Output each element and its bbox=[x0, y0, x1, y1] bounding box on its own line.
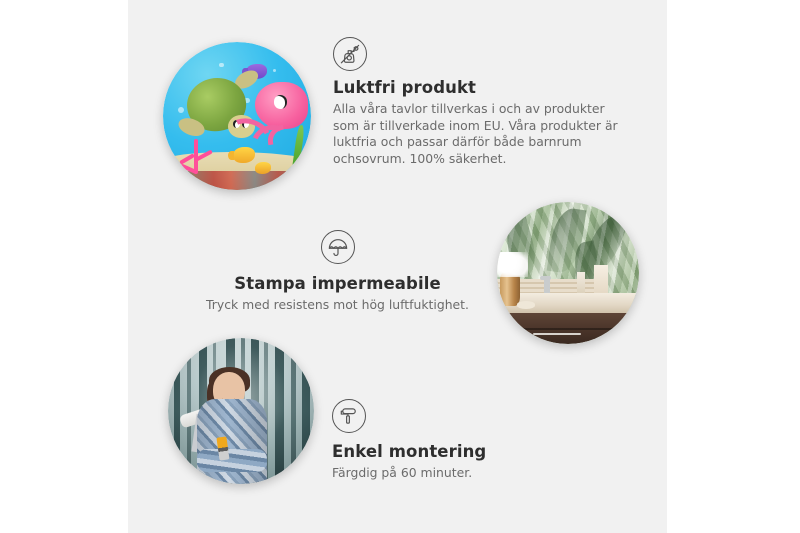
umbrella-icon bbox=[321, 230, 355, 264]
yellow-fish-icon bbox=[255, 162, 271, 174]
faucet bbox=[544, 276, 550, 293]
product-photo-woman-paint-roller-forest bbox=[168, 338, 314, 484]
feature-title: Enkel montering bbox=[332, 442, 592, 461]
toiletry-bottle bbox=[594, 265, 608, 296]
feature-description: Färgdig på 60 minuter. bbox=[332, 465, 592, 482]
feature-description: Tryck med resistens mot hög luftfuktighe… bbox=[205, 297, 470, 314]
octopus-eye bbox=[274, 95, 287, 108]
soap-dish bbox=[517, 301, 535, 308]
feature-title: Luktfri produkt bbox=[333, 78, 629, 97]
bubble-icon bbox=[273, 69, 277, 73]
vanity-cabinet bbox=[508, 313, 639, 344]
feature-title: Stampa impermeabile bbox=[205, 274, 470, 293]
feature-odor-free: Luktfri produkt Alla våra tavlor tillver… bbox=[333, 37, 629, 167]
bubble-icon bbox=[178, 107, 184, 113]
feature-waterproof-print: Stampa impermeabile Tryck med resistens … bbox=[205, 230, 470, 314]
flower-bouquet bbox=[497, 252, 528, 278]
product-photo-underwater-kids-mural bbox=[163, 42, 311, 190]
coral bbox=[176, 134, 216, 174]
feature-easy-mounting: Enkel montering Färgdig på 60 minuter. bbox=[332, 399, 592, 482]
woman-crossed-arms bbox=[197, 449, 267, 472]
product-photo-bathroom-tropical-wallpaper bbox=[497, 202, 639, 344]
vase bbox=[500, 273, 520, 306]
no-perfume-spray-icon bbox=[333, 37, 367, 71]
bubble-icon bbox=[219, 63, 223, 67]
infographic-canvas: Luktfri produkt Alla våra tavlor tillver… bbox=[0, 0, 800, 533]
toiletry-bottle bbox=[577, 272, 586, 293]
paint-roller-icon bbox=[332, 399, 366, 433]
feature-description: Alla våra tavlor tillverkas i och av pro… bbox=[333, 101, 629, 167]
